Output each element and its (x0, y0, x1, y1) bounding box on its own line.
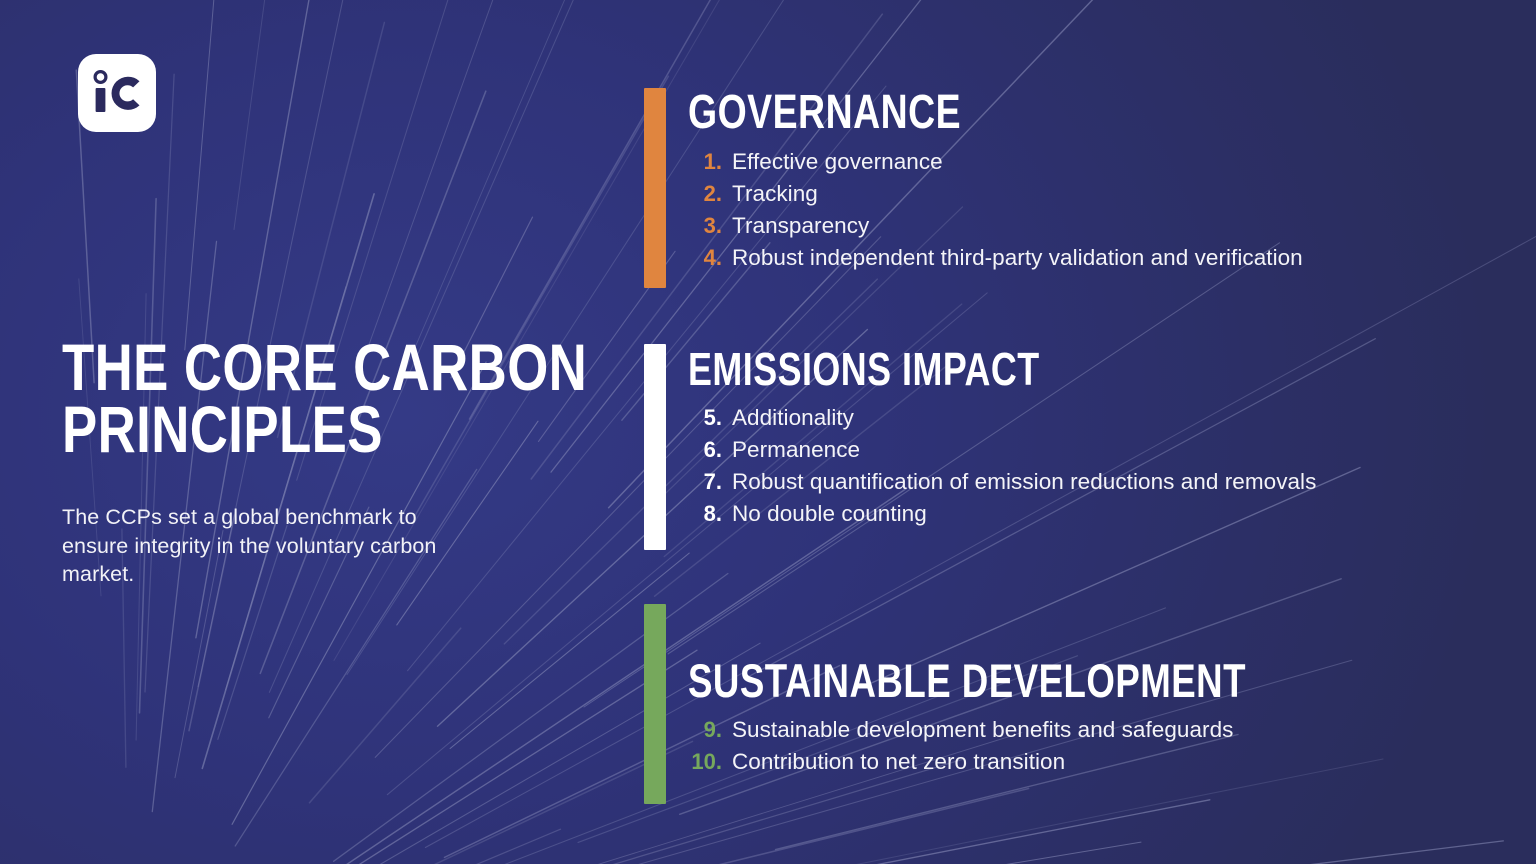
list-item: 9. Sustainable development benefits and … (688, 714, 1403, 746)
principle-label: Transparency (732, 210, 869, 242)
section-governance: GOVERNANCE 1. Effective governance 2. Tr… (644, 88, 1303, 288)
principle-number: 3. (688, 210, 732, 242)
list-item: 4. Robust independent third-party valida… (688, 242, 1303, 274)
list-item: 3. Transparency (688, 210, 1303, 242)
principle-number: 1. (688, 146, 732, 178)
principle-label: Sustainable development benefits and saf… (732, 714, 1233, 746)
principle-label: Contribution to net zero transition (732, 746, 1065, 778)
principle-label: Additionality (732, 402, 854, 434)
principles-sections: GOVERNANCE 1. Effective governance 2. Tr… (644, 0, 1536, 864)
principle-label: Robust independent third-party validatio… (732, 242, 1303, 274)
title-line-1: THE CORE CARBON (62, 336, 478, 398)
principle-number: 4. (688, 242, 732, 274)
list-item: 6. Permanence (688, 434, 1316, 466)
principle-number: 5. (688, 402, 732, 434)
title-line-2: PRINCIPLES (62, 398, 478, 460)
list-item: 2. Tracking (688, 178, 1303, 210)
list-item: 7. Robust quantification of emission red… (688, 466, 1316, 498)
principle-label: Robust quantification of emission reduct… (732, 466, 1316, 498)
list-item: 8. No double counting (688, 498, 1316, 530)
section-emissions-impact: EMISSIONS IMPACT 5. Additionality 6. Per… (644, 344, 1316, 550)
principle-number: 2. (688, 178, 732, 210)
principle-list-governance: 1. Effective governance 2. Tracking 3. T… (688, 146, 1303, 274)
section-heading-emissions-impact: EMISSIONS IMPACT (688, 344, 1178, 394)
list-item: 10. Contribution to net zero transition (688, 746, 1403, 778)
principle-number: 10. (688, 746, 732, 778)
principle-label: Effective governance (732, 146, 943, 178)
left-panel: THE CORE CARBON PRINCIPLES The CCPs set … (0, 0, 620, 864)
list-item: 1. Effective governance (688, 146, 1303, 178)
page-title: THE CORE CARBON PRINCIPLES (62, 336, 582, 460)
accent-bar-emissions-impact (644, 344, 666, 550)
slide-canvas: THE CORE CARBON PRINCIPLES The CCPs set … (0, 0, 1536, 864)
principle-label: Tracking (732, 178, 818, 210)
principle-number: 9. (688, 714, 732, 746)
accent-bar-sustainable-development (644, 604, 666, 804)
section-heading-sustainable-development: SUSTAINABLE DEVELOPMENT (688, 656, 1246, 706)
principle-label: No double counting (732, 498, 927, 530)
principle-list-sustainable-development: 9. Sustainable development benefits and … (688, 714, 1403, 778)
section-sustainable-development: SUSTAINABLE DEVELOPMENT 9. Sustainable d… (644, 604, 1403, 804)
ic-logo-icon (78, 54, 156, 132)
section-heading-governance: GOVERNANCE (688, 88, 1168, 138)
principle-list-emissions-impact: 5. Additionality 6. Permanence 7. Robust… (688, 402, 1316, 530)
list-item: 5. Additionality (688, 402, 1316, 434)
principle-number: 8. (688, 498, 732, 530)
hero-subtitle: The CCPs set a global benchmark to ensur… (62, 503, 482, 589)
principle-label: Permanence (732, 434, 860, 466)
accent-bar-governance (644, 88, 666, 288)
principle-number: 7. (688, 466, 732, 498)
principle-number: 6. (688, 434, 732, 466)
